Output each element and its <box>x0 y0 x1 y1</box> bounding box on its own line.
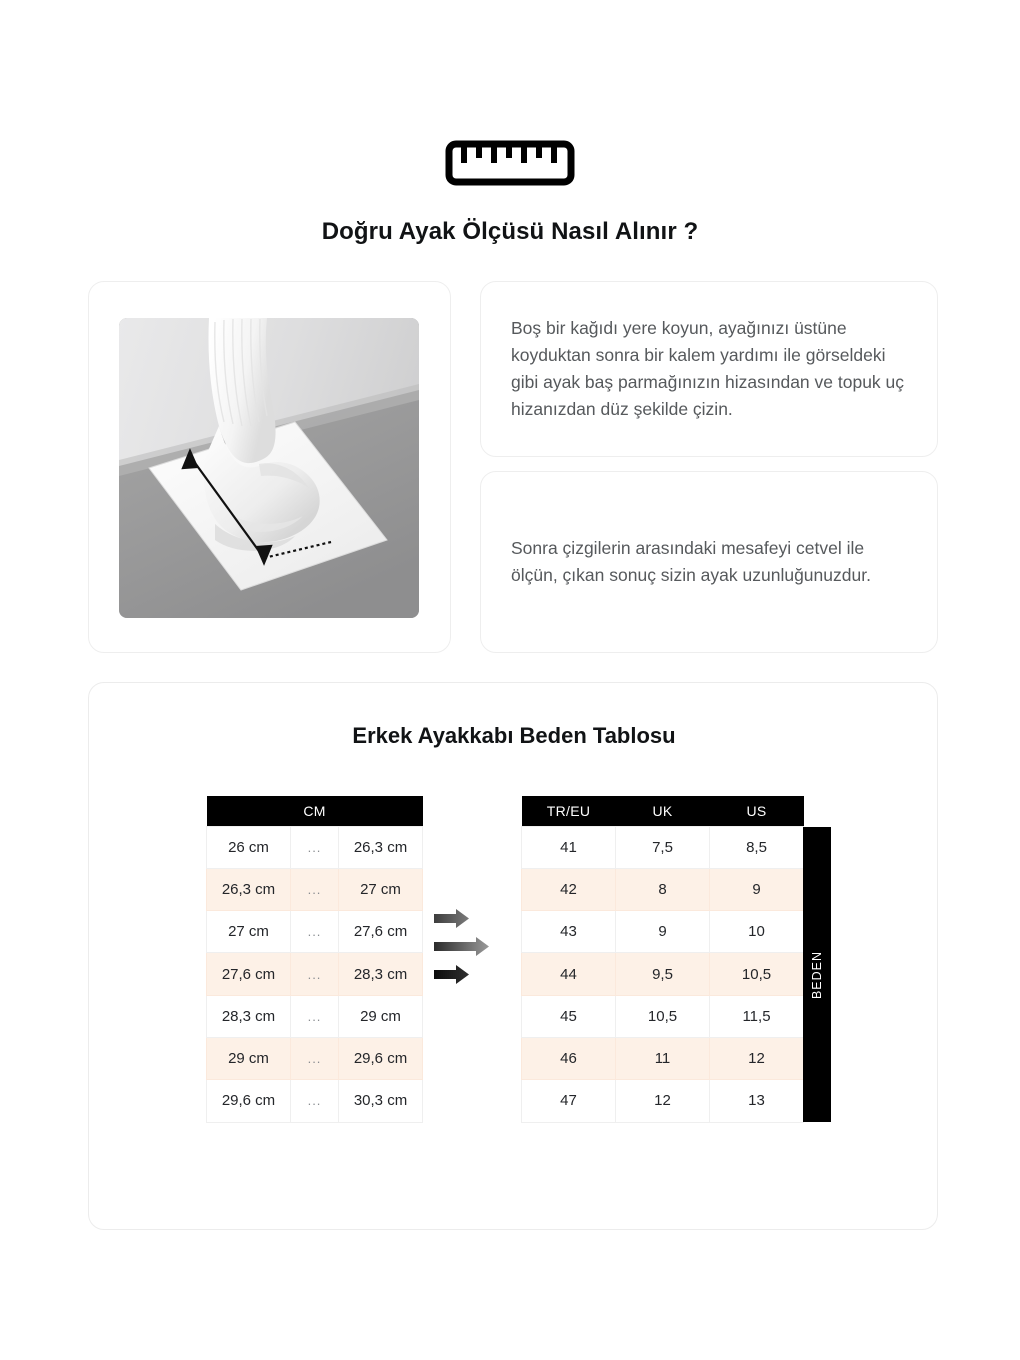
size-uk: 7,5 <box>616 826 710 868</box>
size-chart-card: Erkek Ayakkabı Beden Tablosu CM 26 cm ..… <box>88 682 938 1230</box>
foot-measure-photo <box>119 318 419 618</box>
instructions-section: Boş bir kağıdı yere koyun, ayağınızı üst… <box>88 281 938 653</box>
size-uk: 12 <box>616 1080 710 1122</box>
size-us: 10,5 <box>710 953 804 995</box>
size-treu: 43 <box>522 911 616 953</box>
table-row: 29 cm ... 29,6 cm <box>207 1037 423 1079</box>
cm-from: 27 cm <box>207 911 291 953</box>
cm-to: 29,6 cm <box>339 1037 423 1079</box>
size-us: 13 <box>710 1080 804 1122</box>
table-row: 27 cm ... 27,6 cm <box>207 911 423 953</box>
cm-from: 29,6 cm <box>207 1080 291 1122</box>
page-title: Doğru Ayak Ölçüsü Nasıl Alınır ? <box>0 218 1020 246</box>
table-row: 46 11 12 <box>522 1037 804 1079</box>
size-tables-wrapper: CM 26 cm ... 26,3 cm 26,3 cm ... 27 cm <box>89 796 939 1126</box>
instruction-card-2: Sonra çizgilerin arasındaki mesafeyi cet… <box>480 471 938 653</box>
table-row: 45 10,5 11,5 <box>522 995 804 1037</box>
cm-from: 29 cm <box>207 1037 291 1079</box>
size-us: 8,5 <box>710 826 804 868</box>
size-treu: 47 <box>522 1080 616 1122</box>
size-chart-title: Erkek Ayakkabı Beden Tablosu <box>89 723 939 749</box>
cm-from: 27,6 cm <box>207 953 291 995</box>
arrow-right-icon <box>434 937 489 956</box>
size-treu: 45 <box>522 995 616 1037</box>
size-treu: 44 <box>522 953 616 995</box>
size-guide-page: Doğru Ayak Ölçüsü Nasıl Alınır ? <box>0 0 1020 1360</box>
cm-sep: ... <box>291 1037 339 1079</box>
cm-table-header-row: CM <box>207 796 423 826</box>
size-header-treu: TR/EU <box>522 796 616 826</box>
size-header-us: US <box>710 796 804 826</box>
table-row: 44 9,5 10,5 <box>522 953 804 995</box>
instruction-card-1: Boş bir kağıdı yere koyun, ayağınızı üst… <box>480 281 938 457</box>
size-table: TR/EU UK US 41 7,5 8,5 42 8 9 <box>521 796 804 1123</box>
table-row: 28,3 cm ... 29 cm <box>207 995 423 1037</box>
size-uk: 11 <box>616 1037 710 1079</box>
size-table-header-row: TR/EU UK US <box>522 796 804 826</box>
size-us: 12 <box>710 1037 804 1079</box>
cm-sep: ... <box>291 868 339 910</box>
beden-side-bar: BEDEN <box>803 827 831 1122</box>
cm-sep: ... <box>291 1080 339 1122</box>
instruction-text-2: Sonra çizgilerin arasındaki mesafeyi cet… <box>481 535 937 589</box>
cm-sep: ... <box>291 826 339 868</box>
size-treu: 46 <box>522 1037 616 1079</box>
cm-to: 29 cm <box>339 995 423 1037</box>
cm-table: CM 26 cm ... 26,3 cm 26,3 cm ... 27 cm <box>206 796 423 1123</box>
arrow-right-icon-group <box>434 901 502 1001</box>
table-row: 47 12 13 <box>522 1080 804 1122</box>
cm-from: 26,3 cm <box>207 868 291 910</box>
cm-sep: ... <box>291 953 339 995</box>
arrow-right-icon <box>434 909 469 928</box>
table-row: 26 cm ... 26,3 cm <box>207 826 423 868</box>
foot-photo-illustration <box>119 318 419 618</box>
photo-card <box>88 281 451 653</box>
arrow-right-icon <box>434 965 469 984</box>
table-row: 43 9 10 <box>522 911 804 953</box>
size-treu: 41 <box>522 826 616 868</box>
cm-sep: ... <box>291 911 339 953</box>
cm-from: 28,3 cm <box>207 995 291 1037</box>
cm-header-cell: CM <box>207 796 423 826</box>
ruler-icon-container <box>0 140 1020 186</box>
size-us: 11,5 <box>710 995 804 1037</box>
table-row: 26,3 cm ... 27 cm <box>207 868 423 910</box>
cm-to: 26,3 cm <box>339 826 423 868</box>
size-header-uk: UK <box>616 796 710 826</box>
cm-sep: ... <box>291 995 339 1037</box>
size-uk: 9,5 <box>616 953 710 995</box>
size-us: 9 <box>710 868 804 910</box>
instruction-text-1: Boş bir kağıdı yere koyun, ayağınızı üst… <box>481 315 937 423</box>
instruction-cards: Boş bir kağıdı yere koyun, ayağınızı üst… <box>480 281 938 653</box>
size-treu: 42 <box>522 868 616 910</box>
size-uk: 9 <box>616 911 710 953</box>
cm-from: 26 cm <box>207 826 291 868</box>
cm-to: 28,3 cm <box>339 953 423 995</box>
beden-label: BEDEN <box>810 950 824 998</box>
table-row: 27,6 cm ... 28,3 cm <box>207 953 423 995</box>
size-uk: 10,5 <box>616 995 710 1037</box>
size-us: 10 <box>710 911 804 953</box>
cm-to: 27 cm <box>339 868 423 910</box>
table-row: 29,6 cm ... 30,3 cm <box>207 1080 423 1122</box>
size-uk: 8 <box>616 868 710 910</box>
ruler-icon <box>445 140 575 186</box>
cm-to: 30,3 cm <box>339 1080 423 1122</box>
table-row: 41 7,5 8,5 <box>522 826 804 868</box>
cm-to: 27,6 cm <box>339 911 423 953</box>
table-row: 42 8 9 <box>522 868 804 910</box>
